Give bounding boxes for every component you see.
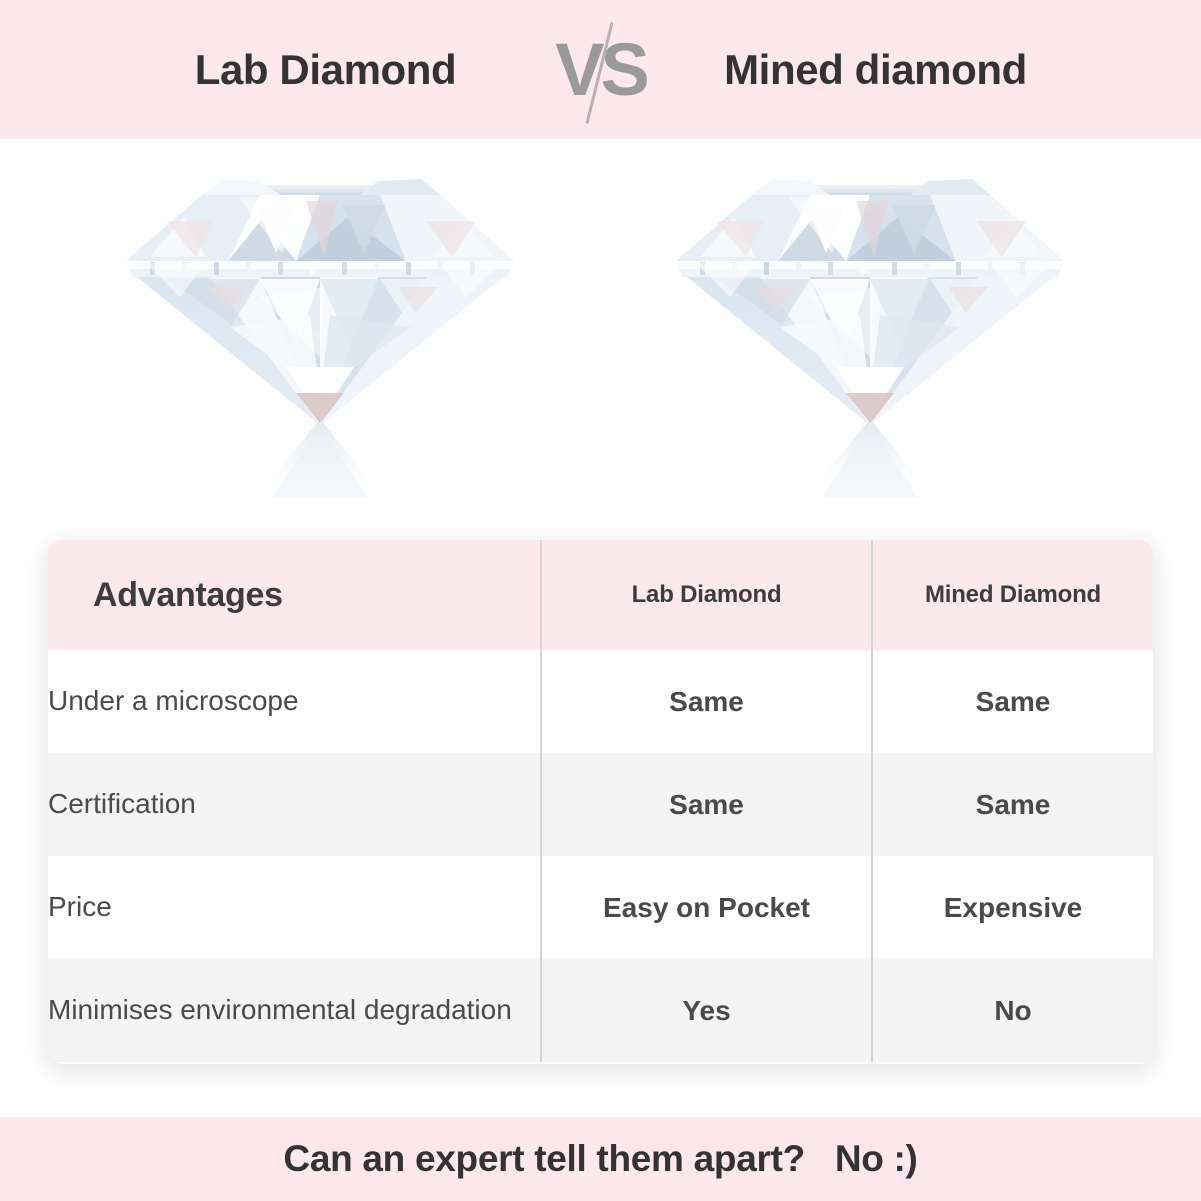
diamond-illustration	[110, 157, 530, 517]
row-label: Minimises environmental degradation	[48, 959, 541, 1062]
row-value-mined: No	[872, 959, 1153, 1062]
footer-band: Can an expert tell them apart? No :)	[0, 1117, 1201, 1201]
footer-question: Can an expert tell them apart? No :)	[283, 1138, 917, 1180]
row-label: Under a microscope	[48, 650, 541, 753]
table-row: Price Easy on Pocket Expensive	[48, 856, 1153, 959]
header-title-mined: Mined diamond	[666, 46, 1086, 94]
row-value-mined: Same	[872, 753, 1153, 856]
row-value-mined: Expensive	[872, 856, 1153, 959]
table-header-row: Advantages Lab Diamond Mined Diamond	[48, 540, 1153, 650]
diamond-illustration	[660, 157, 1080, 517]
mined-diamond-image	[660, 157, 1080, 517]
header-title-lab: Lab Diamond	[116, 46, 536, 94]
row-value-lab: Yes	[541, 959, 872, 1062]
row-value-lab: Easy on Pocket	[541, 856, 872, 959]
table-header: Advantages Lab Diamond Mined Diamond	[48, 540, 1153, 650]
diamond-images-section	[0, 139, 1201, 529]
header-band: Lab Diamond VS Mined diamond	[0, 0, 1201, 139]
table-body: Under a microscope Same Same Certificati…	[48, 650, 1153, 1062]
lab-diamond-image	[110, 157, 530, 517]
table-row: Certification Same Same	[48, 753, 1153, 856]
row-value-lab: Same	[541, 753, 872, 856]
column-header-mined-diamond: Mined Diamond	[872, 540, 1153, 650]
row-value-mined: Same	[872, 650, 1153, 753]
comparison-card: Advantages Lab Diamond Mined Diamond Und…	[48, 540, 1153, 1064]
row-label: Price	[48, 856, 541, 959]
versus-badge: VS	[536, 15, 666, 125]
table-row: Under a microscope Same Same	[48, 650, 1153, 753]
row-value-lab: Same	[541, 650, 872, 753]
column-header-advantages: Advantages	[48, 540, 541, 650]
table-row: Minimises environmental degradation Yes …	[48, 959, 1153, 1062]
comparison-table: Advantages Lab Diamond Mined Diamond Und…	[48, 540, 1153, 1062]
header-inner: Lab Diamond VS Mined diamond	[0, 15, 1201, 125]
column-header-lab-diamond: Lab Diamond	[541, 540, 872, 650]
row-label: Certification	[48, 753, 541, 856]
